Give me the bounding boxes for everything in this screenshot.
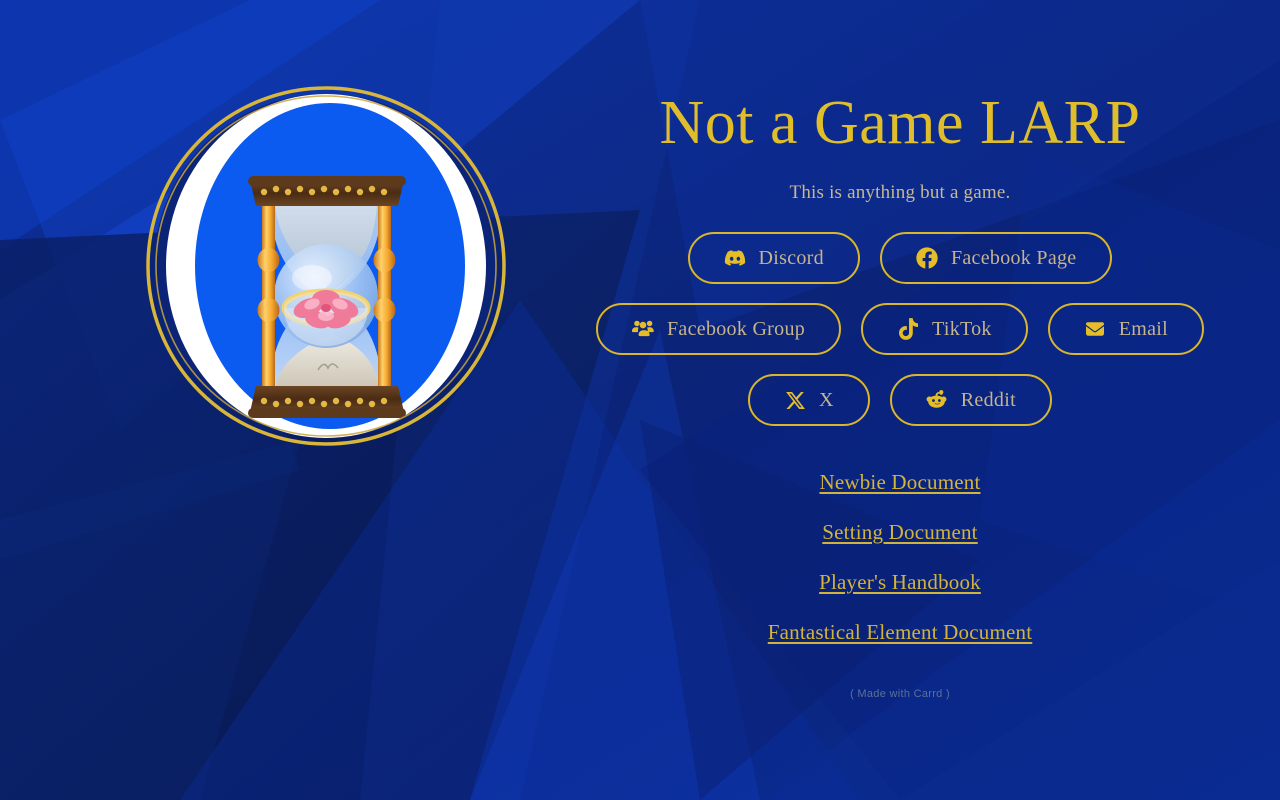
document-links: Newbie Document Setting Document Player'… [768,470,1033,645]
players-handbook-link[interactable]: Player's Handbook [819,570,981,595]
reddit-button[interactable]: Reddit [890,374,1052,426]
button-label: Discord [759,247,824,270]
facebook-icon [916,247,938,269]
social-button-row-1: Discord Facebook Page [688,232,1113,284]
x-twitter-icon [784,389,806,411]
users-icon [632,318,654,340]
social-button-group: Discord Facebook Page [550,232,1250,445]
hourglass-emblem-icon [142,82,510,450]
tiktok-icon [897,318,919,340]
fantastical-element-document-link[interactable]: Fantastical Element Document [768,620,1033,645]
main-content: Not a Game LARP This is anything but a g… [520,0,1280,800]
button-label: Reddit [961,389,1016,412]
button-label: Facebook Page [951,247,1077,270]
site-logo [142,82,510,450]
made-with-carrd-footer[interactable]: ( Made with Carrd ) [850,688,950,700]
setting-document-link[interactable]: Setting Document [822,520,977,545]
x-button[interactable]: X [748,374,870,426]
newbie-document-link[interactable]: Newbie Document [819,470,980,495]
page-title: Not a Game LARP [659,92,1140,154]
facebook-group-button[interactable]: Facebook Group [596,303,841,355]
button-label: Facebook Group [667,318,805,341]
button-label: Email [1119,318,1168,341]
discord-button[interactable]: Discord [688,232,860,284]
tiktok-button[interactable]: TikTok [861,303,1028,355]
social-button-row-3: X Reddit [748,374,1052,426]
button-label: TikTok [932,318,992,341]
reddit-icon [926,389,948,411]
button-label: X [819,389,834,412]
facebook-page-button[interactable]: Facebook Page [880,232,1113,284]
email-button[interactable]: Email [1048,303,1204,355]
discord-icon [724,247,746,269]
envelope-icon [1084,318,1106,340]
page-tagline: This is anything but a game. [790,182,1011,204]
social-button-row-2: Facebook Group TikTok [596,303,1204,355]
landing-page: Not a Game LARP This is anything but a g… [0,0,1280,800]
